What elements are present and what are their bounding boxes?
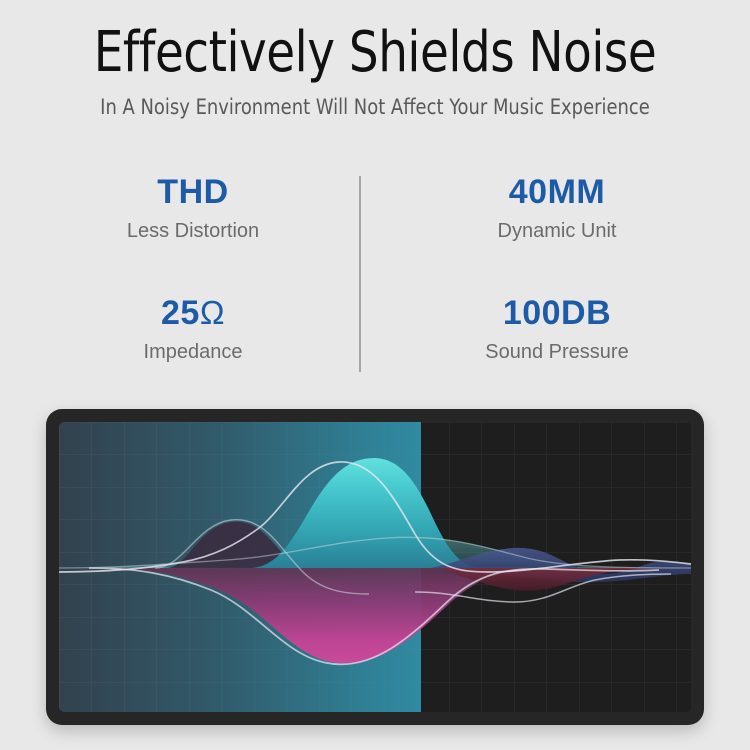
device-bezel (46, 409, 704, 725)
spec-value-text: 25 (161, 294, 200, 332)
page-title: Effectively Shields Noise (26, 0, 724, 83)
spec-item-driver: 40MM Dynamic Unit (392, 174, 722, 243)
spec-label: Sound Pressure (392, 340, 722, 364)
page-subtitle: In A Noisy Environment Will Not Affect Y… (19, 83, 732, 119)
spec-value-text: THD (157, 173, 228, 211)
spec-value: 40MM (392, 174, 722, 211)
spec-label: Dynamic Unit (392, 219, 722, 243)
spec-label: Less Distortion (28, 219, 358, 243)
spec-value: 25Ω (28, 295, 358, 332)
waveform-display (59, 422, 691, 712)
spec-value-suffix: Ω (200, 294, 225, 331)
header: Effectively Shields Noise In A Noisy Env… (0, 0, 750, 119)
spec-grid-divider (359, 176, 361, 372)
spec-value-text: 100DB (503, 294, 611, 332)
spec-value-text: 40MM (509, 173, 605, 211)
spec-item-thd: THD Less Distortion (28, 174, 358, 243)
spec-item-impedance: 25Ω Impedance (28, 295, 358, 364)
spec-value: THD (28, 174, 358, 211)
spec-label: Impedance (28, 340, 358, 364)
spec-item-sound-pressure: 100DB Sound Pressure (392, 295, 722, 364)
waveform-svg (59, 422, 691, 712)
spec-value: 100DB (392, 295, 722, 332)
spec-grid: THD Less Distortion 40MM Dynamic Unit 25… (0, 160, 750, 390)
